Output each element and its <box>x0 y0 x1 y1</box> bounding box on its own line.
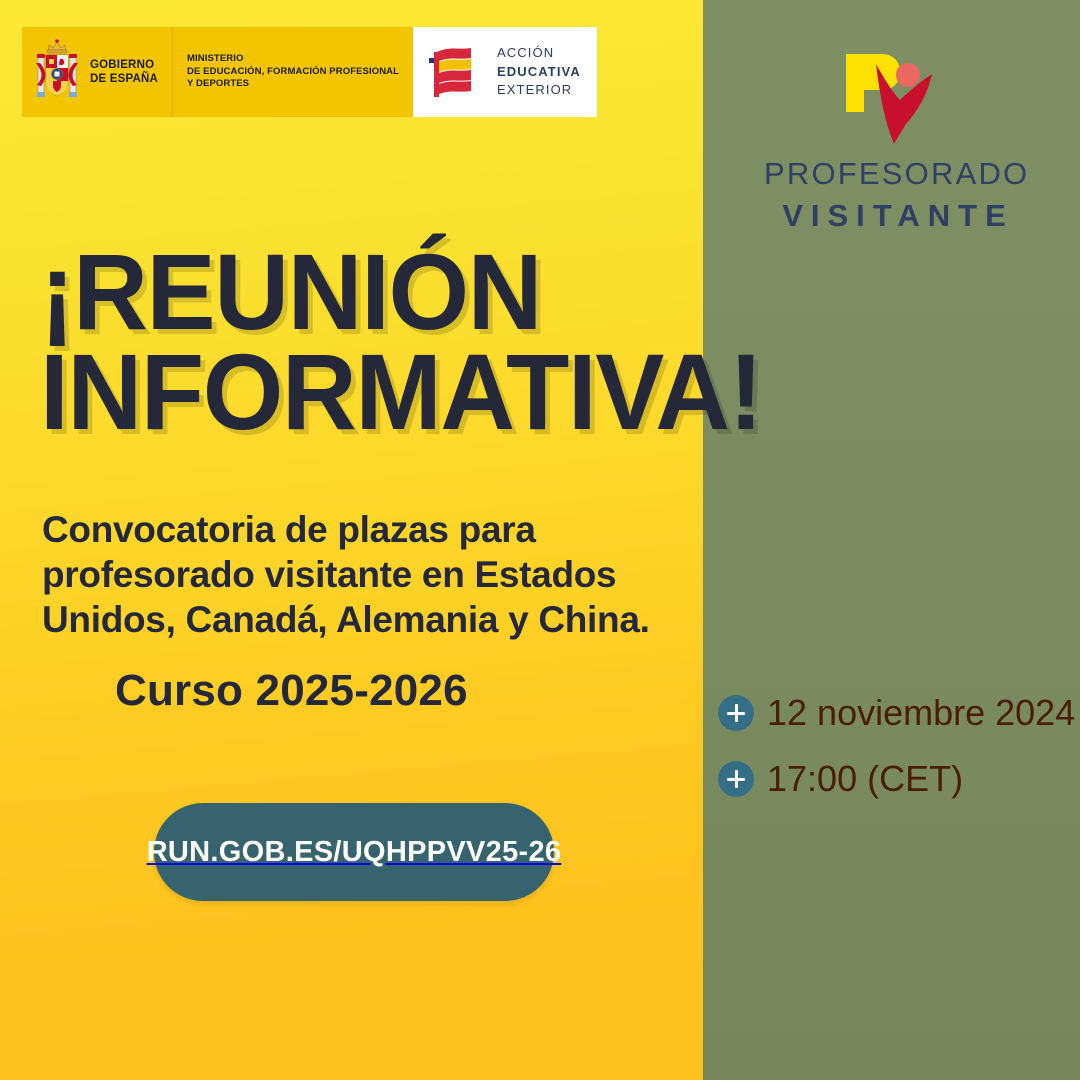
brand-line-profesorado: PROFESORADO <box>764 156 1024 192</box>
headline-line-1: ¡REUNIÓN <box>40 242 762 342</box>
gobierno-de-espana-label: GOBIERNO DE ESPAÑA <box>90 58 158 87</box>
registration-url-button[interactable]: RUN.GOB.ES/UQHPPVV25-26 <box>154 803 554 901</box>
poster-canvas: GOBIERNO DE ESPAÑA MINISTERIO DE EDUCACI… <box>0 0 1080 1080</box>
government-logo-bar: GOBIERNO DE ESPAÑA MINISTERIO DE EDUCACI… <box>22 27 597 117</box>
accion-educativa-exterior-label: ACCIÓN EDUCATIVA EXTERIOR <box>497 44 581 101</box>
min-line-3: Y DEPORTES <box>187 78 249 89</box>
event-date-label: 12 noviembre 2024 <box>767 692 1075 734</box>
academic-year-label: Curso 2025-2026 <box>115 666 468 716</box>
ministerio-block: MINISTERIO DE EDUCACIÓN, FORMACIÓN PROFE… <box>173 27 413 117</box>
profesorado-visitante-figure-icon <box>824 42 964 146</box>
spain-waving-flag-icon <box>425 42 487 102</box>
description-paragraph: Convocatoria de plazas para profesorado … <box>42 507 702 642</box>
description-bold: profesorado visitante <box>42 554 412 595</box>
plus-circle-icon <box>718 695 754 731</box>
gobierno-de-espana-block: GOBIERNO DE ESPAÑA <box>22 27 173 117</box>
aee-line-1: ACCIÓN <box>497 45 554 60</box>
gov-line-1: GOBIERNO <box>90 59 154 71</box>
min-line-1: MINISTERIO <box>187 53 243 64</box>
page-title: ¡REUNIÓN INFORMATIVA! <box>40 242 762 443</box>
list-item: 17:00 (CET) <box>718 758 1075 800</box>
spain-coat-of-arms-icon <box>32 37 82 107</box>
gov-line-2: DE ESPAÑA <box>90 73 158 85</box>
headline-line-2: INFORMATIVA! <box>40 342 762 442</box>
aee-line-3: EXTERIOR <box>497 82 572 97</box>
list-item: 12 noviembre 2024 <box>718 692 1075 734</box>
accion-educativa-exterior-block: ACCIÓN EDUCATIVA EXTERIOR <box>413 27 597 117</box>
plus-circle-icon <box>718 761 754 797</box>
profesorado-visitante-logo: PROFESORADO VISITANTE <box>764 42 1024 234</box>
description-part-1: Convocatoria de plazas para <box>42 509 536 550</box>
ministerio-label: MINISTERIO DE EDUCACIÓN, FORMACIÓN PROFE… <box>187 53 399 91</box>
schedule-list: 12 noviembre 2024 17:00 (CET) <box>718 692 1075 800</box>
event-time-label: 17:00 (CET) <box>767 758 963 800</box>
min-line-2: DE EDUCACIÓN, FORMACIÓN PROFESIONAL <box>187 66 399 77</box>
registration-url-label: RUN.GOB.ES/UQHPPVV25-26 <box>147 836 562 869</box>
brand-line-visitante: VISITANTE <box>764 198 1024 234</box>
aee-line-2: EDUCATIVA <box>497 64 581 79</box>
